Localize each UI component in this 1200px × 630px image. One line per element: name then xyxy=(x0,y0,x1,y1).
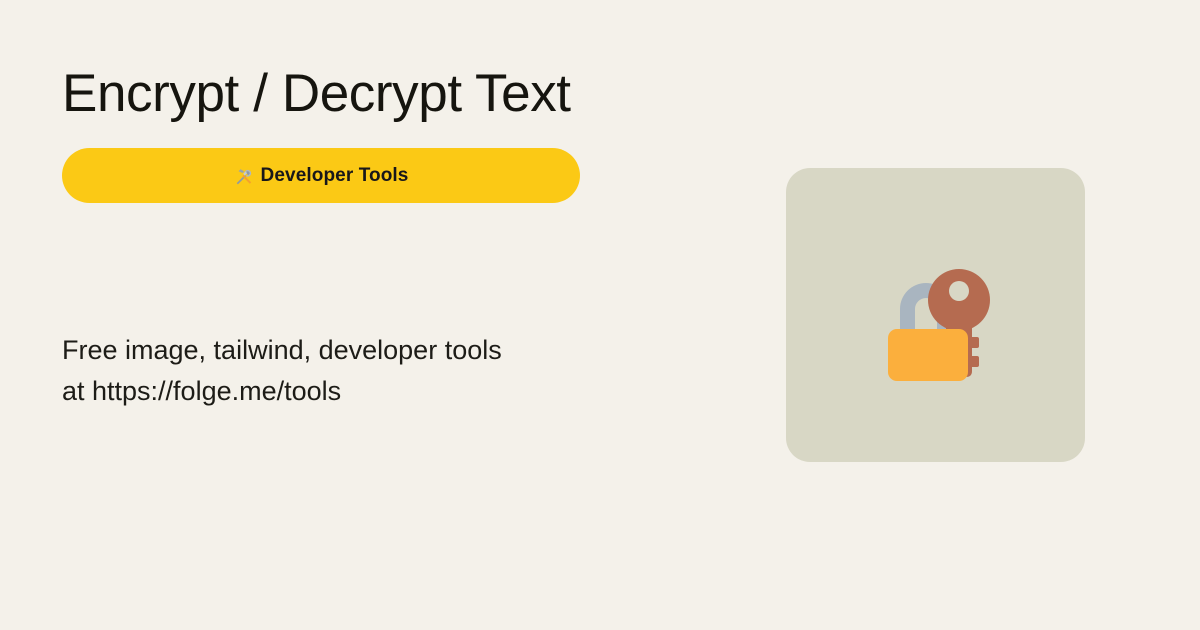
description-text: Free image, tailwind, developer tools at… xyxy=(62,330,622,412)
description-line-1: Free image, tailwind, developer tools xyxy=(62,330,622,371)
category-badge: Developer Tools xyxy=(62,148,580,203)
page-title: Encrypt / Decrypt Text xyxy=(62,62,702,126)
text-column: Encrypt / Decrypt Text Developer Tools F… xyxy=(62,0,702,630)
closed-lock-with-key-icon xyxy=(866,245,1006,385)
description-line-2: at https://folge.me/tools xyxy=(62,371,622,412)
og-image-card: Encrypt / Decrypt Text Developer Tools F… xyxy=(0,0,1200,630)
category-badge-label: Developer Tools xyxy=(261,166,409,185)
hammer-and-wrench-icon xyxy=(234,167,254,187)
icon-tile xyxy=(786,168,1085,462)
